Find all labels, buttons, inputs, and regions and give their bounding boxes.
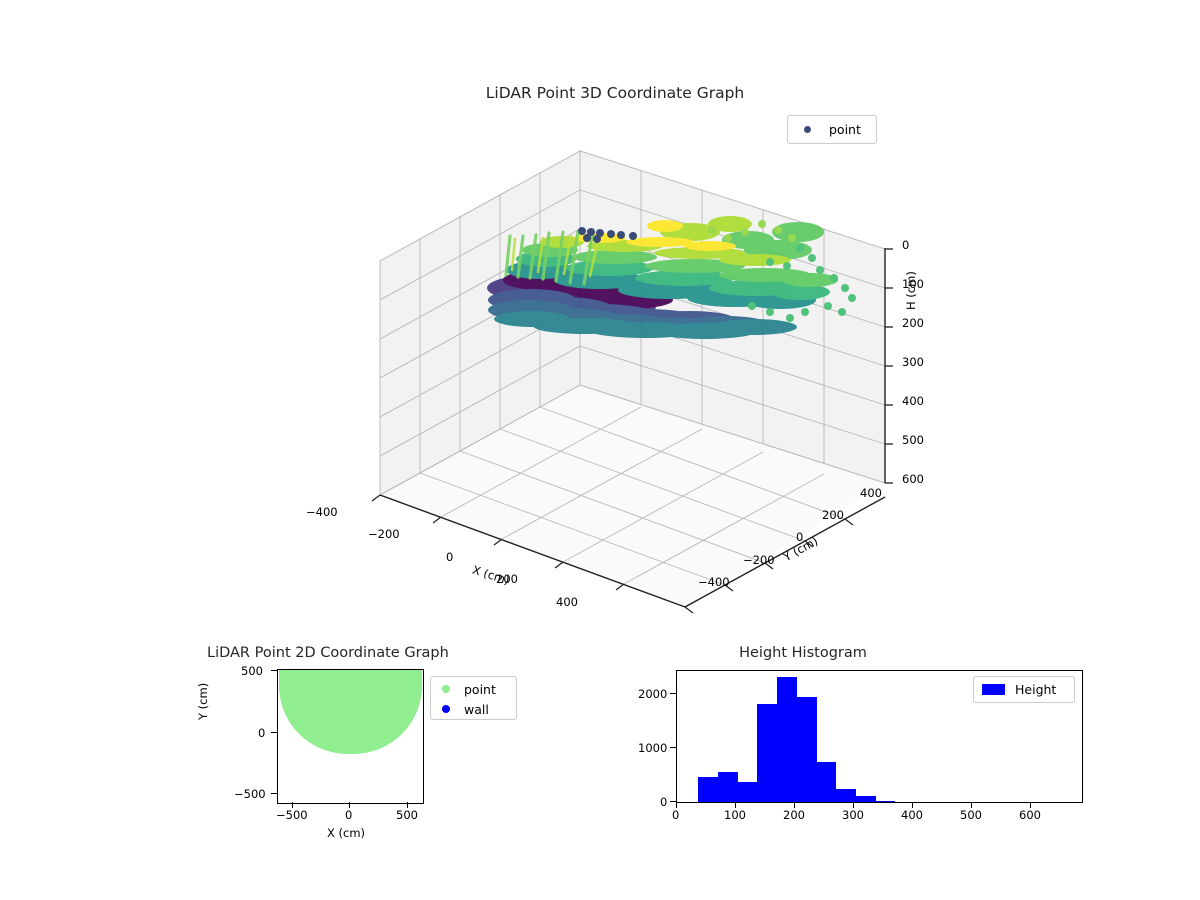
y-tick-2d-2: −500 [234, 787, 266, 801]
histogram-bar [718, 772, 738, 802]
z-tick-3d-4: 400 [902, 394, 924, 408]
x-tick-hist-0: 0 [672, 808, 679, 822]
legend-2d-wall-label: wall [464, 702, 489, 717]
x-tick-hist-1: 100 [724, 808, 746, 822]
z-tick-3d-6: 600 [902, 472, 924, 486]
y-tick-3d-3: 200 [822, 508, 844, 522]
histogram-bar [738, 782, 757, 802]
histogram-bar [817, 762, 836, 802]
histogram-bar [757, 704, 777, 802]
z-tick-3d-0: 0 [902, 238, 909, 252]
y-tick-hist-2: 2000 [638, 687, 667, 701]
y-axis-label-2d: Y (cm) [196, 683, 210, 720]
z-axis-label-3d: H (cm) [904, 271, 918, 310]
legend-2d[interactable]: point wall [430, 676, 517, 720]
legend-2d-point-marker [442, 685, 450, 693]
y-tick-2d-1: 0 [258, 726, 265, 740]
y-tick-hist-0: 0 [660, 795, 667, 809]
y-tickmark-2d-0 [271, 670, 277, 671]
axes-2d[interactable] [277, 669, 424, 804]
legend-2d-item-wall[interactable]: wall [431, 699, 516, 719]
axes-3d-canvas [300, 120, 940, 620]
y-tick-3d-0: −400 [698, 575, 730, 589]
x-tick-2d-1: 0 [345, 808, 352, 822]
panel-3d-title: LiDAR Point 3D Coordinate Graph [0, 84, 1200, 102]
y-tickmark-hist-1 [670, 747, 676, 748]
panel-hist-title: Height Histogram [0, 645, 1200, 661]
y-tick-hist-1: 1000 [638, 741, 667, 755]
y-tickmark-2d-1 [271, 732, 277, 733]
x-tickmark-2d-0 [292, 802, 293, 808]
y-tick-2d-0: 500 [241, 664, 263, 678]
legend-histogram[interactable]: Height [973, 676, 1075, 703]
x-tick-3d-4: 400 [556, 595, 578, 609]
y-tickmark-hist-2 [670, 693, 676, 694]
x-tick-3d-0: −400 [306, 505, 338, 519]
x-tick-hist-4: 400 [901, 808, 923, 822]
x-tickmark-hist-4 [912, 802, 913, 808]
axes-3d[interactable]: −400 −200 0 200 400 −400 −200 0 200 400 … [300, 120, 940, 620]
x-tick-3d-1: −200 [368, 527, 400, 541]
histogram-bar [698, 777, 718, 802]
z-tick-3d-2: 200 [902, 316, 924, 330]
z-tick-3d-3: 300 [902, 355, 924, 369]
x-tickmark-2d-1 [349, 802, 350, 808]
x-tickmark-hist-5 [971, 802, 972, 808]
x-tick-2d-0: −500 [276, 808, 308, 822]
x-tickmark-hist-1 [735, 802, 736, 808]
histogram-bar [836, 789, 856, 802]
y-tickmark-2d-2 [271, 793, 277, 794]
legend-histogram-label: Height [1015, 682, 1056, 697]
x-tick-hist-6: 600 [1019, 808, 1041, 822]
x-tickmark-hist-6 [1030, 802, 1031, 808]
legend-histogram-swatch [982, 684, 1005, 695]
legend-2d-item-point[interactable]: point [431, 679, 516, 699]
legend-2d-point-label: point [464, 682, 496, 697]
scatter-2d-points [279, 669, 422, 754]
y-tick-3d-4: 400 [860, 486, 882, 500]
matplotlib-figure: LiDAR Point 3D Coordinate Graph point [0, 0, 1200, 900]
x-tickmark-hist-2 [794, 802, 795, 808]
z-tick-3d-5: 500 [902, 433, 924, 447]
legend-2d-wall-marker [442, 705, 450, 713]
x-tickmark-hist-3 [853, 802, 854, 808]
x-axis-label-2d: X (cm) [327, 826, 365, 840]
panel-hist-title-text: Height Histogram [739, 645, 867, 661]
x-tick-2d-2: 500 [396, 808, 418, 822]
histogram-bar [856, 796, 875, 802]
y-tick-3d-1: −200 [743, 553, 775, 567]
histogram-bar [876, 801, 896, 802]
x-tickmark-2d-2 [407, 802, 408, 808]
x-tick-hist-2: 200 [783, 808, 805, 822]
histogram-bar [797, 697, 817, 802]
x-tick-hist-5: 500 [960, 808, 982, 822]
histogram-bar [777, 677, 796, 802]
panel-3d-title-text: LiDAR Point 3D Coordinate Graph [486, 84, 744, 102]
x-tick-3d-2: 0 [446, 550, 453, 564]
x-tickmark-hist-0 [676, 802, 677, 808]
x-tick-hist-3: 300 [842, 808, 864, 822]
